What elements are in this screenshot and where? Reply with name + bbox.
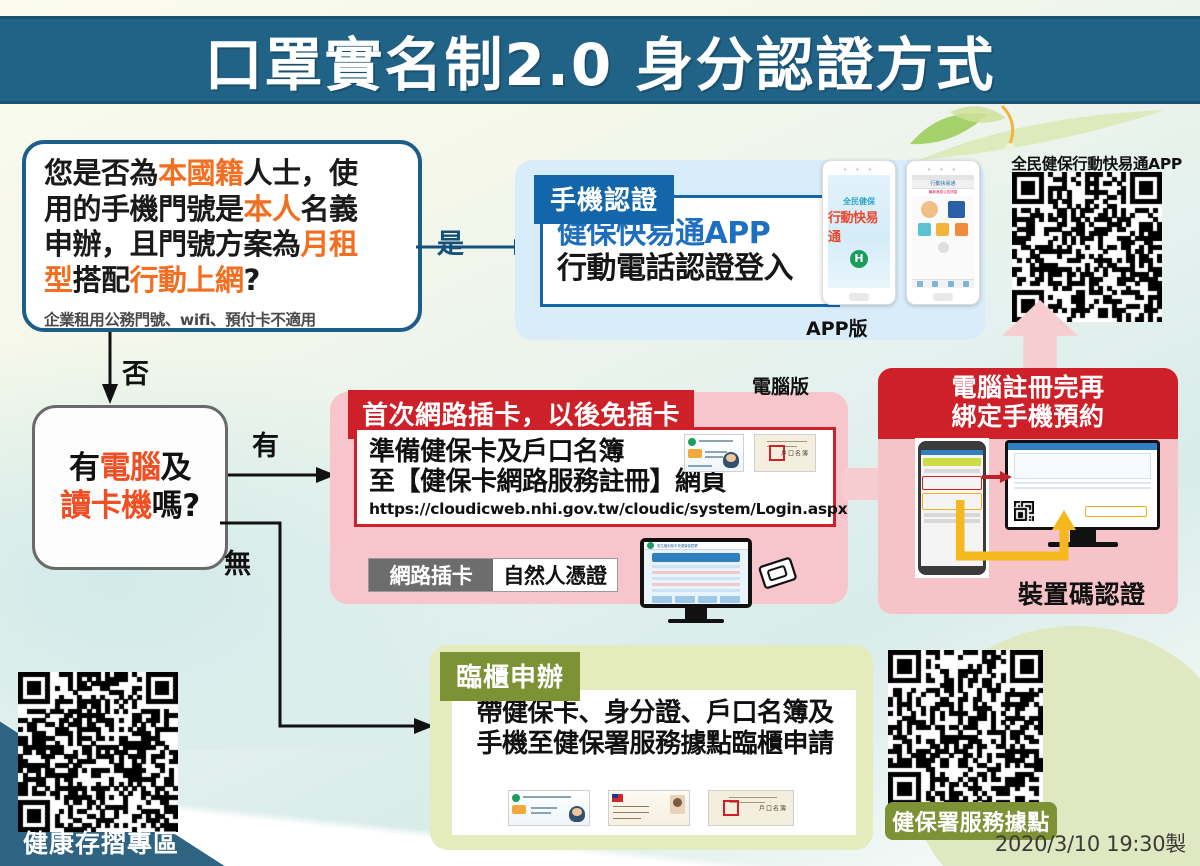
phone-splash-mockup: • • • 全民健保 行動快易通 H [822, 160, 896, 305]
page-title-bar: 口罩實名制2.0 身分認證方式 [0, 16, 1200, 104]
q2-l1b: 及 [160, 450, 191, 486]
seg-option-citizen-cert[interactable]: 自然人憑證 [493, 559, 617, 591]
counter-line1: 帶健保卡、身分證、戶口名簿及 [462, 698, 848, 729]
counter-tag: 臨櫃申辦 [440, 652, 580, 701]
footer-stamp: 2020/3/10 19:30製 [995, 828, 1186, 858]
qr-service-point-block[interactable]: 健保署服務據點 [888, 650, 1043, 809]
phone-home-button-2 [933, 293, 953, 301]
q1-l4a: 搭配 [73, 263, 130, 297]
question-2-text: 有電腦及 讀卡機嗎? [60, 450, 199, 526]
desktop-monitor-mockup: 衛生福利部中央健康保險署 [640, 538, 752, 623]
qr-code-app[interactable] [1012, 172, 1162, 322]
q1-l3a: 申辦，且門號方案為 [44, 227, 301, 261]
q1-l1b: 人士，使 [244, 156, 358, 190]
edge-none-label: 無 [224, 542, 251, 581]
edge-have-label: 有 [252, 424, 279, 463]
counter-id-card-image [608, 790, 690, 826]
phone-apphome-mockup: • • • 行動快易通 最新消息公告訊息 [906, 160, 980, 305]
q1-l1-highlight: 本國籍 [158, 156, 244, 190]
q2-l1a: 有 [69, 450, 100, 486]
card-reader-icon [756, 554, 800, 594]
counter-nhi-card-image [508, 790, 590, 826]
question-nationality-phone-box: 您是否為本國籍人士，使 用的手機門號是本人名義 申辦，且門號方案為月租 型搭配行… [22, 140, 422, 332]
bind-phone-yellow-arrow [956, 498, 1086, 578]
phone-apphome-screen: 行動快易通 最新消息公告訊息 [912, 175, 974, 288]
infographic-page: 口罩實名制2.0 身分認證方式 您是否為本國籍人士，使 用的手機門號是本人名義 … [0, 0, 1200, 866]
q1-l2a: 用的手機門號是 [44, 192, 244, 226]
bind-phone-banner-line1: 電腦註冊完再 [878, 373, 1178, 402]
edge-yes-label: 是 [437, 222, 464, 261]
phone-home-button [849, 293, 869, 301]
bind-phone-banner-line2: 綁定手機預約 [878, 402, 1178, 431]
household-booklet-image: 戶口名簿 [754, 434, 816, 472]
qr-health-record-block[interactable]: 健康存摺專區 [18, 672, 178, 836]
phone-speaker-dots: • • • [823, 166, 895, 174]
page-title: 口罩實名制2.0 身分認證方式 [205, 18, 996, 102]
bind-phone-banner: 電腦註冊完再 綁定手機預約 [878, 368, 1178, 439]
nhi-card-image [684, 434, 744, 472]
device-code-caption: 裝置碼認證 [1018, 575, 1146, 611]
bind-phone-red-arrow [982, 470, 1012, 484]
counter-household-image: 戶口名簿 [708, 790, 794, 826]
qr-app-label: 全民健保行動快易通APP [1011, 152, 1182, 174]
phone-auth-line2: 行動電話認證登入 [557, 251, 827, 286]
question-1-note: 企業租用公務門號、wifi、預付卡不適用 [44, 308, 404, 330]
q1-l4b: ? [244, 263, 260, 297]
register-method-segmented-control[interactable]: 網路插卡 自然人憑證 [368, 558, 618, 592]
q1-l4-highlight-2: 行動上網 [130, 263, 244, 297]
phone-speaker-dots-2: • • • [907, 166, 979, 174]
edge-no-label: 否 [122, 352, 149, 391]
question-1-text: 您是否為本國籍人士，使 用的手機門號是本人名義 申辦，且門號方案為月租 型搭配行… [44, 156, 404, 299]
q1-l4-highlight-1: 型 [44, 263, 73, 297]
edge-have-arrow [228, 455, 338, 491]
question-computer-reader-box: 有電腦及 讀卡機嗎? [32, 405, 228, 570]
q1-l3-highlight: 月租 [301, 227, 358, 261]
q2-l1-highlight: 電腦 [99, 450, 160, 486]
pc-version-label: 電腦版 [752, 372, 809, 399]
pc-register-url[interactable]: https://cloudicweb.nhi.gov.tw/cloudic/sy… [369, 500, 823, 518]
q2-l2b: 嗎? [152, 488, 200, 524]
counter-line2: 手機至健保署服務據點臨櫃申請 [462, 729, 848, 760]
phone-splash-screen: 全民健保 行動快易通 H [828, 175, 890, 288]
app-version-label: APP版 [806, 314, 868, 341]
q1-l1a: 您是否為 [44, 156, 158, 190]
q1-l2-highlight: 本人 [244, 192, 301, 226]
qr-health-record-label: 健康存摺專區 [12, 824, 190, 860]
q2-l2-highlight: 讀卡機 [60, 488, 152, 524]
seg-option-online-card[interactable]: 網路插卡 [369, 559, 493, 591]
phone-auth-tag: 手機認證 [534, 175, 674, 224]
q1-l2b: 名義 [301, 192, 358, 226]
